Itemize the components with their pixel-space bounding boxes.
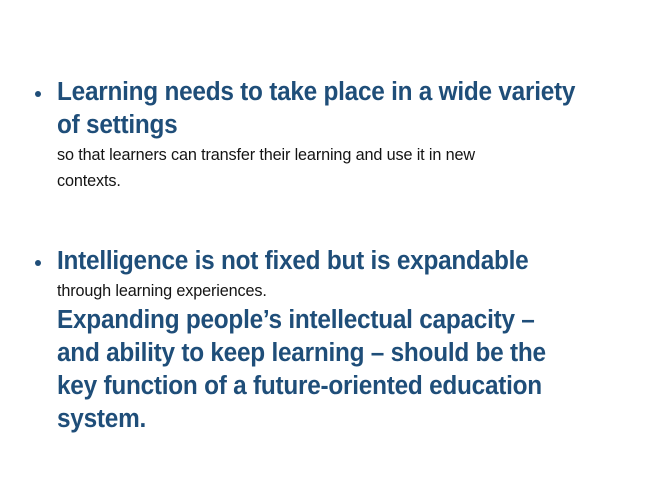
- bullet-1-lead: Learning needs to take place in a wide v…: [57, 76, 649, 142]
- bullet-2-emphasis-line-1: Expanding people’s intellectual capacity…: [57, 304, 649, 337]
- bullet-2-lead: Intelligence is not fixed but is expanda…: [57, 245, 649, 278]
- bullet-2-sub: through learning experiences.: [57, 278, 649, 304]
- slide-canvas: Learning needs to take place in a wide v…: [0, 0, 649, 483]
- bullet-dot-icon: [35, 91, 41, 97]
- bullet-2-emphasis-line-2: and ability to keep learning – should be…: [57, 337, 649, 370]
- bullet-1-sub-line-1: so that learners can transfer their lear…: [57, 142, 649, 168]
- bullet-1-lead-line-2: of settings: [57, 109, 649, 142]
- bullet-1-lead-line-1: Learning needs to take place in a wide v…: [57, 76, 649, 109]
- bullet-2-sub-line-1: through learning experiences.: [57, 278, 649, 304]
- bullet-1-sub: so that learners can transfer their lear…: [57, 142, 649, 194]
- bullet-dot-icon: [35, 260, 41, 266]
- bullet-2-emphasis-line-3: key function of a future-oriented educat…: [57, 370, 649, 403]
- bullet-2-emphasis: Expanding people’s intellectual capacity…: [57, 304, 649, 436]
- bullet-1-sub-line-2: contexts.: [57, 168, 649, 194]
- bullet-2-lead-line-1: Intelligence is not fixed but is expanda…: [57, 245, 649, 278]
- bullet-block-2: Intelligence is not fixed but is expanda…: [0, 245, 649, 436]
- bullet-2-emphasis-line-4: system.: [57, 403, 649, 436]
- bullet-block-1: Learning needs to take place in a wide v…: [0, 76, 649, 194]
